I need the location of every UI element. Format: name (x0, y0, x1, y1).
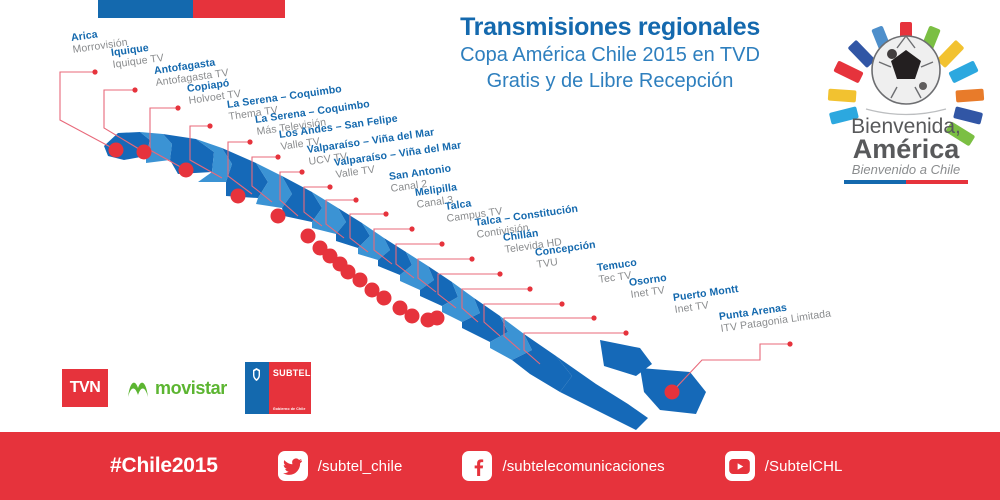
leader-lines (60, 72, 790, 392)
social-footer: #Chile2015 /subtel_chile /subtelecomunic… (0, 432, 1000, 500)
subtel-sub-label: Gobierno de Chile (273, 407, 306, 411)
facebook-handle[interactable]: /subtelecomunicaciones (502, 458, 664, 475)
twitter-icon[interactable] (278, 451, 308, 481)
city-dot (231, 189, 246, 204)
city-dot (665, 385, 680, 400)
city-dot (271, 209, 286, 224)
city-dot (109, 143, 124, 158)
hashtag: #Chile2015 (110, 454, 218, 478)
city-dot (405, 309, 420, 324)
social-twitter[interactable]: /subtel_chile (278, 451, 403, 481)
movistar-logo: movistar (126, 377, 227, 399)
city-dot (137, 145, 152, 160)
twitter-handle[interactable]: /subtel_chile (318, 458, 403, 475)
facebook-icon[interactable] (462, 451, 492, 481)
movistar-m-icon (126, 377, 150, 399)
youtube-icon[interactable] (725, 451, 755, 481)
infographic-root: Transmisiones regionales Copa América Ch… (0, 0, 1000, 500)
subtel-logo: SUBTEL Gobierno de Chile (245, 362, 311, 414)
city-dot (353, 273, 368, 288)
tvn-logo: TVN (62, 369, 108, 407)
chile-coat-of-arms-icon (245, 362, 269, 414)
social-facebook[interactable]: /subtelecomunicaciones (462, 451, 664, 481)
youtube-handle[interactable]: /SubtelCHL (765, 458, 843, 475)
city-dot (301, 229, 316, 244)
social-youtube[interactable]: /SubtelCHL (725, 451, 843, 481)
city-dot (430, 311, 445, 326)
partner-logos: TVN movistar SUBTEL Gobierno de Chile (62, 362, 311, 414)
city-dot (377, 291, 392, 306)
city-dot (179, 163, 194, 178)
subtel-wordmark: SUBTEL (273, 368, 311, 378)
